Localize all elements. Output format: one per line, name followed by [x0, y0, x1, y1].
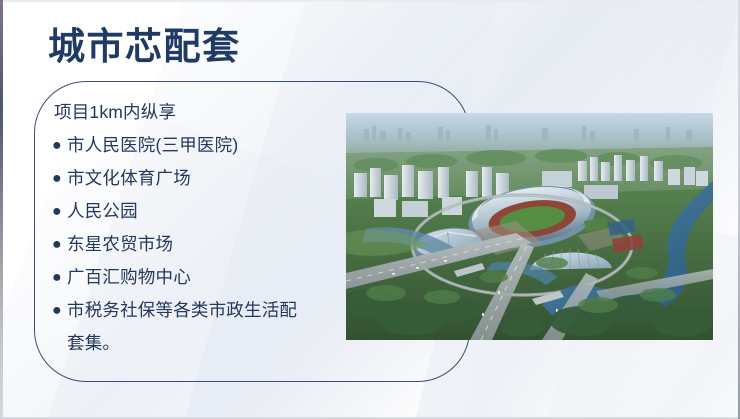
- aerial-sports-complex-photo: [346, 113, 713, 340]
- list-item-label: 人民公园: [67, 201, 138, 221]
- list-item-label: 套集。: [67, 327, 342, 360]
- screenshot-edge-left: [0, 0, 3, 419]
- bullet-icon: ●: [52, 294, 62, 327]
- list-item-label: 广百汇购物中心: [67, 267, 191, 287]
- list-item-label: 市人民医院(三甲医院): [67, 135, 238, 155]
- list-item-label: 东星农贸市场: [67, 234, 173, 254]
- list-item-continuation: 套集。: [52, 327, 342, 360]
- list-item: ● 东星农贸市场: [52, 228, 342, 261]
- slide-title: 城市芯配套: [48, 24, 241, 70]
- list-item: ● 市文化体育广场: [52, 162, 342, 195]
- list-item: ● 广百汇购物中心: [52, 261, 342, 294]
- bullet-icon: ●: [52, 195, 62, 228]
- list-item: ● 市税务社保等各类市政生活配: [52, 294, 342, 327]
- list-item: ● 人民公园: [52, 195, 342, 228]
- bullet-icon: ●: [52, 162, 62, 195]
- list-item-label: 市税务社保等各类市政生活配: [67, 300, 297, 320]
- content-text-block: 项目1km内纵享 ● 市人民医院(三甲医院) ● 市文化体育广场 ● 人民公园 …: [52, 96, 342, 360]
- list-item-label: 市文化体育广场: [67, 168, 191, 188]
- slide-canvas: 城市芯配套 项目1km内纵享 ● 市人民医院(三甲医院) ● 市文化体育广场 ●…: [0, 0, 740, 419]
- lead-line: 项目1km内纵享: [52, 96, 342, 129]
- bullet-icon: ●: [52, 129, 62, 162]
- list-item: ● 市人民医院(三甲医院): [52, 129, 342, 162]
- bullet-icon: ●: [52, 228, 62, 261]
- aerial-render-illustration: [346, 113, 713, 340]
- bullet-icon: ●: [52, 261, 62, 294]
- screenshot-edge-top: [0, 0, 740, 2]
- facility-list: ● 市人民医院(三甲医院) ● 市文化体育广场 ● 人民公园 ● 东星农贸市场 …: [52, 129, 342, 360]
